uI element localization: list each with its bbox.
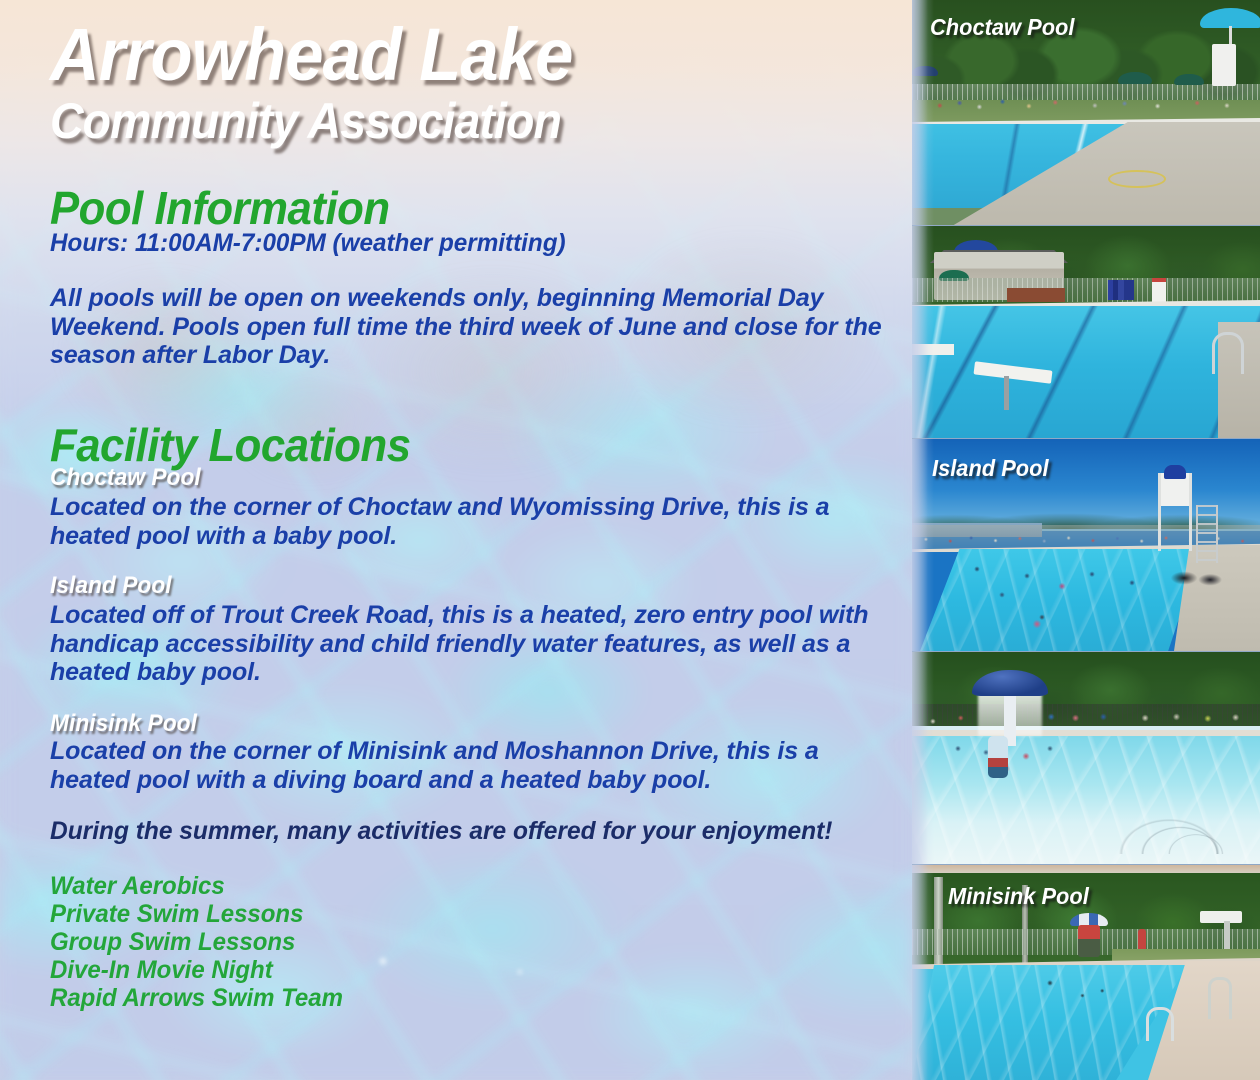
activities-list: Water Aerobics Private Swim Lessons Grou… [50, 872, 355, 1012]
diving-board [1200, 911, 1242, 923]
swim-team-group [1108, 280, 1134, 300]
swimmers-in-pool [926, 738, 1126, 786]
list-item: Private Swim Lessons [50, 900, 343, 928]
navy-umbrella-icon [912, 66, 938, 76]
lifeguard-figure [1078, 925, 1100, 957]
sprinkler-water-arcs [1114, 770, 1246, 854]
brick-wall [1007, 288, 1065, 302]
deck-painted-ring [1108, 170, 1166, 188]
pool-description-island: Located off of Trout Creek Road, this is… [50, 601, 880, 687]
lifeguard-chair [1212, 44, 1236, 86]
photo-label-choctaw-pool: Choctaw Pool [930, 14, 1074, 41]
swimmers-in-pool [1032, 977, 1122, 1007]
photo-choctaw-pool: Choctaw Pool [912, 0, 1260, 225]
pool-ladder [1196, 505, 1218, 563]
pool-description-minisink: Located on the corner of Minisink and Mo… [50, 737, 880, 794]
section-heading-pool-information: Pool Information [50, 185, 390, 231]
information-panel: Arrowhead Lake Community Association Poo… [0, 0, 912, 1080]
panel-content: Arrowhead Lake Community Association Poo… [0, 0, 912, 1080]
pool-hours-text: Hours: 11:00AM-7:00PM (weather permittin… [50, 229, 566, 258]
photo-lap-pool [912, 226, 1260, 438]
list-item: Rapid Arrows Swim Team [50, 984, 343, 1012]
pool-information-poster: Arrowhead Lake Community Association Poo… [0, 0, 1260, 1080]
activities-tagline: During the summer, many activities are o… [50, 817, 832, 846]
green-umbrella-icon [1174, 74, 1204, 85]
pool-handrail [1208, 977, 1232, 1019]
starting-block [912, 344, 954, 355]
organization-name-line-2: Community Association [50, 96, 831, 146]
pool-description-choctaw: Located on the corner of Choctaw and Wyo… [50, 493, 885, 550]
photo-label-island-pool: Island Pool [932, 455, 1049, 482]
organization-name-line-1: Arrowhead Lake [50, 18, 831, 92]
pool-handrail [1146, 1007, 1174, 1041]
pool-handrail [1212, 332, 1244, 374]
chain-link-fence [912, 278, 1260, 302]
adult-with-child [988, 736, 1008, 778]
deck-bags [1168, 567, 1230, 589]
pool-heading-island: Island Pool [50, 572, 172, 600]
lifeguard-stand [1158, 473, 1192, 551]
lifeguard-umbrella-icon [1164, 465, 1186, 479]
list-item: Dive-In Movie Night [50, 956, 343, 984]
swimmers-in-pool [932, 557, 1182, 643]
photo-gallery-column: Choctaw Pool [912, 0, 1260, 1080]
photo-island-pool: Island Pool [912, 439, 1260, 651]
photo-label-minisink-pool: Minisink Pool [948, 883, 1089, 910]
pool-heading-choctaw: Choctaw Pool [50, 464, 201, 492]
season-schedule-text: All pools will be open on weekends only,… [50, 284, 890, 370]
diving-board-stand [1004, 376, 1009, 410]
photo-zero-entry-pool [912, 652, 1260, 864]
list-item: Group Swim Lessons [50, 928, 343, 956]
section-heading-facility-locations: Facility Locations [50, 422, 411, 468]
poolside-crowd [912, 704, 1260, 732]
organization-title: Arrowhead Lake Community Association [50, 18, 890, 146]
list-item: Water Aerobics [50, 872, 343, 900]
pool-heading-minisink: Minisink Pool [50, 710, 197, 738]
green-umbrella-icon [1118, 72, 1152, 84]
lane-lines [912, 306, 1260, 438]
poolside-crowd [920, 90, 1250, 116]
photo-minisink-pool: Minisink Pool [912, 865, 1260, 1080]
lifeguard-chair [1152, 278, 1166, 302]
